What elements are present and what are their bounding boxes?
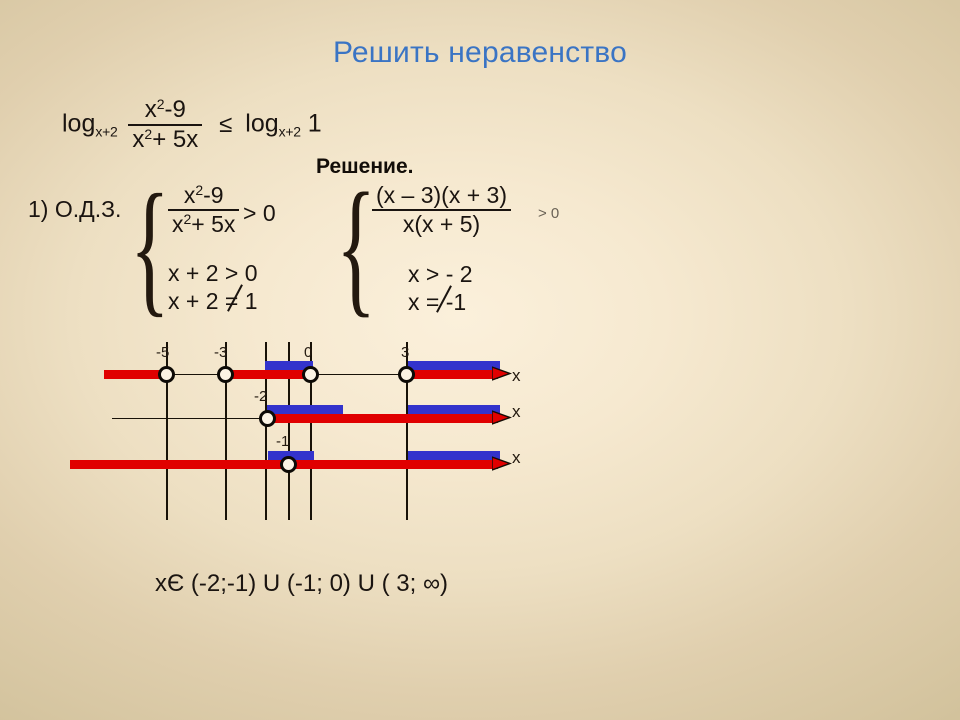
tick-label-minus3: -3 [214,344,227,361]
tick-label-zero: 0 [304,344,312,361]
open-circle-minus5 [158,366,175,383]
open-circle-minus1 [280,456,297,473]
arrowhead-1 [492,366,512,382]
line1-blue-right [408,361,500,370]
tick-label-minus1: -1 [276,433,289,450]
tick-label-three: 3 [401,344,409,361]
axis-label-1: x [512,366,521,386]
line2-blue-right [408,405,500,414]
tick-label-minus2: -2 [254,388,267,405]
arrowhead-2 [492,410,512,426]
line1-red-mid [222,370,312,379]
axis-label-3: x [512,448,521,468]
tick-label-minus5: -5 [156,344,169,361]
line2-blue-mid [267,405,343,414]
line2-red-mid [267,414,363,423]
open-circle-minus2 [259,410,276,427]
final-answer: xЄ (-2;-1) U (-1; 0) U ( 3; ∞) [155,570,448,598]
axis-label-2: x [512,402,521,422]
line1-red-right [406,370,498,379]
open-circle-zero [302,366,319,383]
line3-blue-right [408,451,500,460]
slide-canvas: Решить неравенство logx+2 x2-9 x2+ 5x ≤ … [0,0,960,720]
line2-red-right [363,414,498,423]
open-circle-three [398,366,415,383]
arrowhead-3 [492,456,512,472]
open-circle-minus3 [217,366,234,383]
number-line-diagram: -5 -3 0 3 x -2 x [0,0,960,720]
